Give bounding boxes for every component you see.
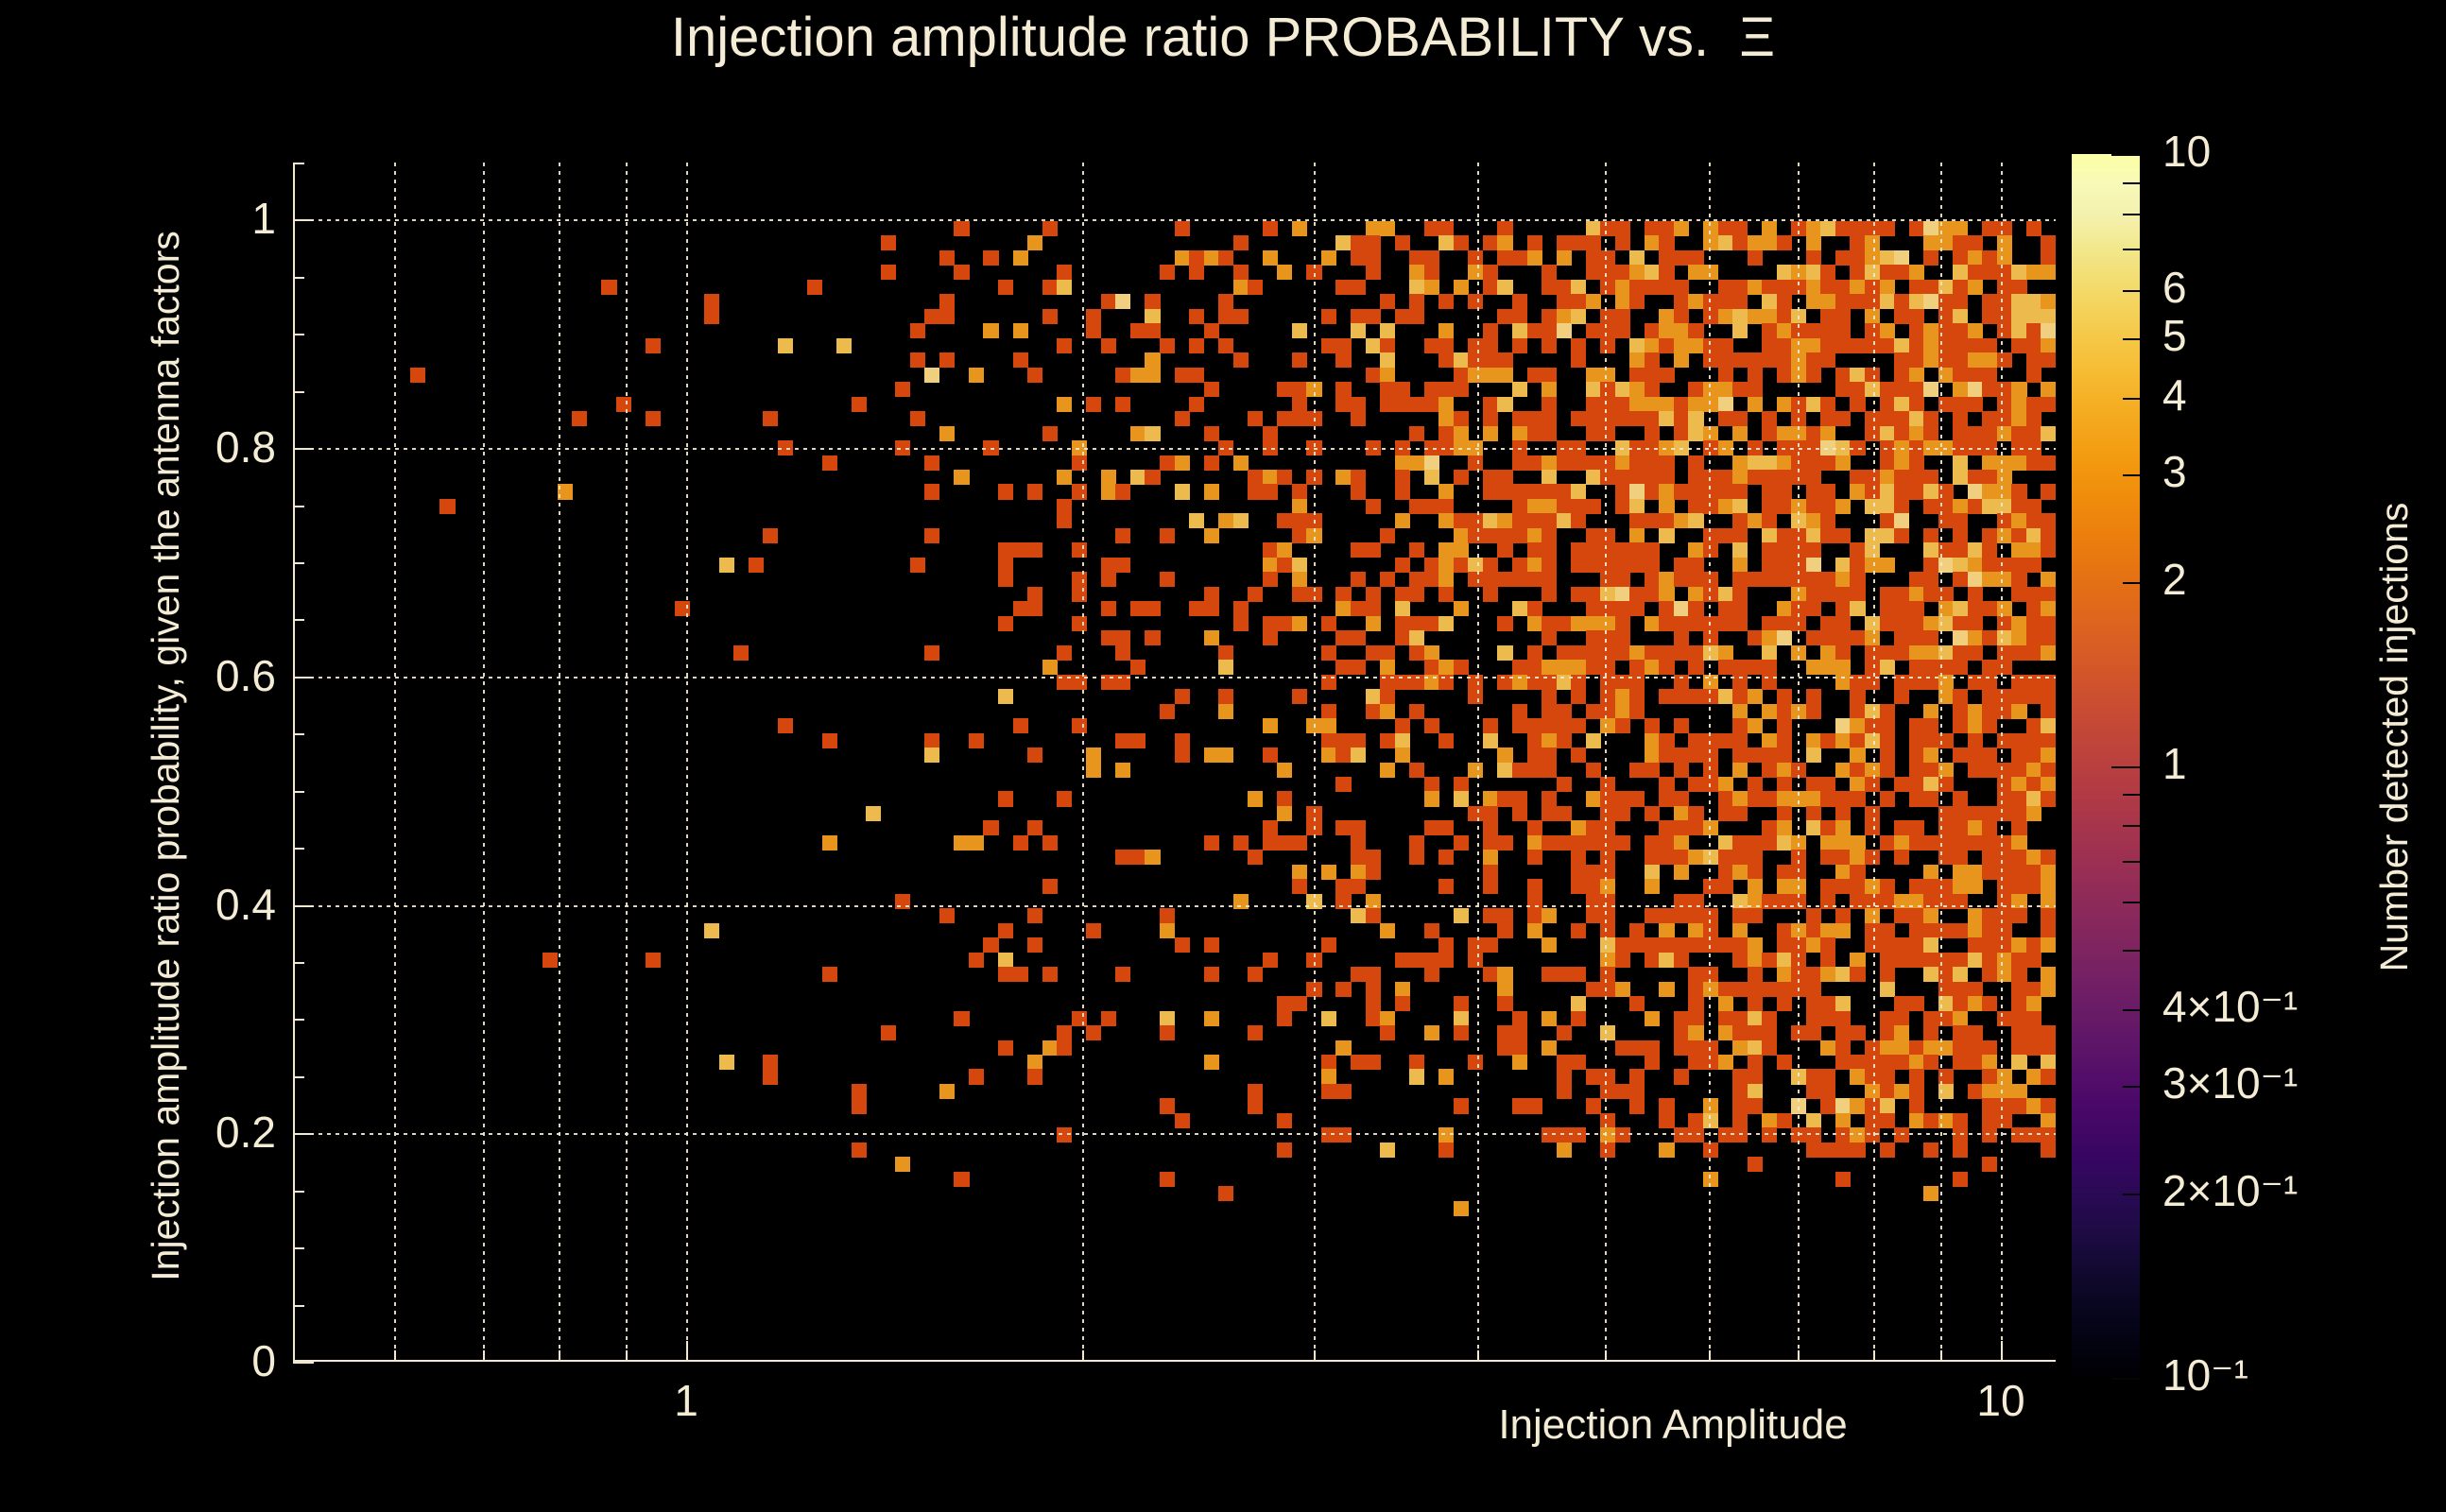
heatmap-cell [1997,1011,2012,1026]
heatmap-cell [1909,601,1924,616]
heatmap-cell [1835,865,1851,880]
heatmap-cell [1923,835,1938,850]
heatmap-cell [1909,718,1924,733]
heatmap-cell [1820,1143,1835,1158]
heatmap-cell [1557,645,1572,661]
heatmap-cell [1820,1011,1835,1026]
heatmap-cell [1659,953,1674,968]
heatmap-cell [939,309,955,324]
heatmap-cell [1923,923,1938,938]
heatmap-cell [1894,937,1909,953]
heatmap-cell [1615,294,1630,309]
heatmap-cell [1497,250,1512,266]
heatmap-cell [1586,1069,1601,1084]
heatmap-cell [1615,572,1630,587]
heatmap-cell [1968,923,1983,938]
heatmap-cell [1233,616,1249,631]
heatmap-cell [1615,323,1630,338]
heatmap-cell [822,733,837,748]
grid-line-horizontal [293,219,2056,221]
heatmap-cell [1968,953,1983,968]
heatmap-cell [1659,338,1674,353]
heatmap-cell [1732,1069,1748,1084]
heatmap-cell [2011,572,2026,587]
heatmap-cell [1659,470,1674,485]
heatmap-cell [1718,1127,1733,1143]
heatmap-cell [1072,542,1087,558]
colorbar-tick [2123,338,2140,340]
heatmap-cell [1777,1113,1792,1128]
heatmap-cell [1366,221,1381,236]
heatmap-cell [1248,967,1263,982]
heatmap-cell [1748,982,1763,997]
heatmap-cell [1321,309,1336,324]
heatmap-cell [1982,718,1997,733]
heatmap-cell [1057,338,1072,353]
heatmap-cell [1953,1055,1968,1070]
heatmap-cell [1571,820,1586,835]
heatmap-cell [1512,763,1527,778]
heatmap-cell [2041,352,2056,368]
heatmap-cell [1762,558,1777,573]
heatmap-cell [1629,455,1645,471]
heatmap-cell [1586,265,1601,280]
heatmap-cell [1600,426,1615,441]
heatmap-cell [1982,1040,1997,1056]
heatmap-cell [2026,265,2041,280]
heatmap-cell [1865,368,1880,383]
colorbar-tick [2123,1086,2140,1088]
heatmap-cell [1542,280,1557,295]
heatmap-cell [1835,1025,1851,1040]
heatmap-cell [1615,587,1630,602]
heatmap-cell [1027,368,1042,383]
heatmap-cell [2041,630,2056,645]
heatmap-cell [998,542,1013,558]
heatmap-cell [2041,937,2056,953]
heatmap-cell [1659,908,1674,923]
heatmap-cell [1880,250,1895,266]
heatmap-cell [1909,382,1924,397]
heatmap-cell [1777,806,1792,821]
heatmap-cell [1600,660,1615,675]
heatmap-cell [1732,1025,1748,1040]
heatmap-cell [1629,338,1645,353]
heatmap-cell [2011,411,2026,426]
heatmap-cell [1982,996,1997,1011]
heatmap-cell [1777,397,1792,412]
heatmap-cell [1292,558,1307,573]
heatmap-cell [1277,791,1292,806]
heatmap-cell [1600,835,1615,850]
heatmap-cell [1820,1069,1835,1084]
heatmap-cell [1351,879,1366,894]
heatmap-cell [1468,572,1483,587]
heatmap-cell [1718,777,1733,792]
heatmap-cell [1335,820,1351,835]
heatmap-cell [1013,718,1028,733]
heatmap-cell [1674,484,1689,499]
heatmap-cell [1042,835,1058,850]
heatmap-cell [1880,411,1895,426]
heatmap-cell [1645,265,1660,280]
heatmap-cell [1380,704,1395,719]
heatmap-cell [1835,587,1851,602]
heatmap-cell [1923,250,1938,266]
heatmap-cell [1351,484,1366,499]
heatmap-cell [822,835,837,850]
colorbar[interactable] [2072,154,2140,1378]
heatmap-cell [2011,645,2026,661]
grid-line-vertical [1873,163,1875,1362]
heatmap-cell [1865,294,1880,309]
heatmap-cell [1894,411,1909,426]
heatmap-cell [1777,309,1792,324]
heatmap-cell [1175,733,1190,748]
heatmap-cell [1542,513,1557,528]
heatmap-cell [1982,660,1997,675]
heatmap-cell [1512,806,1527,821]
heatmap-cell [1438,616,1454,631]
heatmap-cell [1835,368,1851,383]
heatmap-cell [1395,235,1410,250]
heatmap-cell [1880,967,1895,982]
heatmap-cell [1674,747,1689,763]
heatmap-cell [1820,484,1835,499]
heatmap-cell [1645,835,1660,850]
heatmap-cell [1600,1084,1615,1099]
heatmap-cell [1321,865,1336,880]
heatmap-cell [1145,426,1160,441]
heatmap-cell [1850,718,1865,733]
heatmap-cell [1615,470,1630,485]
heatmap-cell [1835,1098,1851,1113]
heatmap-cell [1277,996,1292,1011]
heatmap-cell [1454,558,1469,573]
heatmap-cell [1483,235,1498,250]
colorbar-tick [2123,398,2140,400]
heatmap-cell [1820,352,1835,368]
heatmap-cell [1277,1011,1292,1026]
plot-title: Injection amplitude ratio PROBABILITY vs… [0,6,2446,69]
heatmap-cell [1351,250,1366,266]
heatmap-cell [1762,352,1777,368]
heatmap-cell [1777,996,1792,1011]
heatmap-cell [1629,470,1645,485]
heatmap-cell [1674,280,1689,295]
heatmap-cell [1454,542,1469,558]
heatmap-cell [1600,879,1615,894]
heatmap-cell [1468,953,1483,968]
heatmap-cell [1909,1040,1924,1056]
heatmap-cell [1512,718,1527,733]
heatmap-cell [1645,879,1660,894]
heatmap-cell [1835,250,1851,266]
heatmap-cell [1732,908,1748,923]
heatmap-cell [1351,835,1366,850]
heatmap-cell [1806,542,1821,558]
heatmap-cell [1395,309,1410,324]
heatmap-cell [1483,558,1498,573]
heatmap-cell [1292,572,1307,587]
heatmap-cell [1351,572,1366,587]
heatmap-cell [2041,967,2056,982]
heatmap-cell [1542,791,1557,806]
heatmap-cell [1748,908,1763,923]
heatmap-cell [1497,528,1512,543]
heatmap-cell [1600,455,1615,471]
heatmap-cell [1175,250,1190,266]
heatmap-cell [1175,368,1190,383]
heatmap-cell [1865,411,1880,426]
heatmap-cell [1997,382,2012,397]
heatmap-cell [1557,1069,1572,1084]
heatmap-cell [1263,572,1278,587]
heatmap-cell [1997,1098,2012,1113]
heatmap-cell [1923,953,1938,968]
heatmap-cell [1880,835,1895,850]
heatmap-cell [1629,397,1645,412]
heatmap-cell [1894,309,1909,324]
heatmap-cell [1057,1025,1072,1040]
heatmap-cell [1953,382,1968,397]
heatmap-cell [1483,528,1498,543]
heatmap-cell [1130,368,1145,383]
heatmap-cell [1409,630,1424,645]
heatmap-cell [998,280,1013,295]
heatmap-cell [1454,1011,1469,1026]
heatmap-cell [1953,791,1968,806]
heatmap-cell [2011,1127,2026,1143]
heatmap-cell [1424,820,1439,835]
heatmap-cell [1645,1040,1660,1056]
heatmap-cell [1659,484,1674,499]
heatmap-cell [1953,1040,1968,1056]
heatmap-cell [1571,1011,1586,1026]
heatmap-cell [1571,455,1586,471]
heatmap-cell [1645,865,1660,880]
heatmap-cell [1454,601,1469,616]
heatmap-cell [1557,835,1572,850]
heatmap-cell [1982,1127,1997,1143]
heatmap-cell [2041,323,2056,338]
heatmap-cell [1923,382,1938,397]
heatmap-cell [1894,850,1909,865]
heatmap-cell [1732,542,1748,558]
y-tick-label: 1 [87,193,276,244]
grid-line-vertical [626,163,628,1362]
heatmap-cell [1806,1069,1821,1084]
heatmap-cell [1292,484,1307,499]
heatmap-cell [1894,382,1909,397]
heatmap-cell [2011,1040,2026,1056]
heatmap-cell [1615,718,1630,733]
heatmap-cell [1512,382,1527,397]
heatmap-cell [1835,601,1851,616]
heatmap-cell [1409,572,1424,587]
heatmap-cell [1732,806,1748,821]
heatmap-cell [1101,484,1116,499]
heatmap-cell [1865,382,1880,397]
heatmap-cell [1645,587,1660,602]
heatmap-cell [1820,572,1835,587]
heatmap-cell [1777,865,1792,880]
heatmap-cell [1806,572,1821,587]
heatmap-cell [1424,558,1439,573]
heatmap-cell [1542,689,1557,704]
heatmap-cell [1909,1113,1924,1128]
heatmap-cell [1248,280,1263,295]
heatmap-cell [2041,908,2056,923]
heatmap-cell [2026,982,2041,997]
heatmap-cell [1674,1069,1689,1084]
heatmap-cell [1674,601,1689,616]
heatmap-cell [1160,1098,1175,1113]
heatmap-cell [969,368,984,383]
heatmap-cell [1748,937,1763,953]
heatmap-cell [1674,513,1689,528]
heatmap-cell [1894,352,1909,368]
heatmap-cell [1806,528,1821,543]
heatmap-cell [1865,528,1880,543]
heatmap-cell [1571,587,1586,602]
heatmap-cell [1424,221,1439,236]
heatmap-cell [1233,265,1249,280]
heatmap-cell [1968,1040,1983,1056]
heatmap-cell [1600,368,1615,383]
heatmap-cell [1777,718,1792,733]
heatmap-cell [2026,542,2041,558]
heatmap-cell [1424,953,1439,968]
heatmap-cell [1557,309,1572,324]
heatmap-cell [1115,528,1130,543]
heatmap-cell [1409,294,1424,309]
heatmap-cell [1923,426,1938,441]
heatmap-cell [1586,426,1601,441]
colorbar-tick [2123,182,2140,184]
heatmap-cell [1438,587,1454,602]
heatmap-cell [1748,235,1763,250]
heatmap-cell [1335,470,1351,485]
heatmap-cell [1366,1011,1381,1026]
heatmap-cell [1880,470,1895,485]
heatmap-cell [954,1172,969,1187]
heatmap-cell [1894,294,1909,309]
heatmap-cell [1968,338,1983,353]
heatmap-cell [1880,733,1895,748]
heatmap-cell [1806,747,1821,763]
heatmap-cell [2011,953,2026,968]
heatmap-cell [1557,1055,1572,1070]
heatmap-cell [1263,820,1278,835]
heatmap-cell [1615,953,1630,968]
heatmap-cell [1542,630,1557,645]
heatmap-cell [1454,352,1469,368]
heatmap-cell [910,323,925,338]
heatmap-cell [2011,996,2026,1011]
heatmap-cell [1777,982,1792,997]
heatmap-cell [1042,879,1058,894]
heatmap-cell [1483,572,1498,587]
heatmap-cell [1380,923,1395,938]
heatmap-cell [1968,982,1983,997]
heatmap-cell [1629,660,1645,675]
colorbar-tick-label: 5 [2162,310,2389,361]
heatmap-cell [1335,601,1351,616]
heatmap-cell [1366,645,1381,661]
heatmap-cell [1968,704,1983,719]
heatmap-cell [2011,1098,2026,1113]
heatmap-cell [1923,280,1938,295]
heatmap-cell [1820,953,1835,968]
heatmap-cell [1953,967,1968,982]
heatmap-cell [1748,953,1763,968]
heatmap-cell [1189,397,1204,412]
heatmap-cell [1688,982,1703,997]
colorbar-tick [2111,766,2140,768]
heatmap-cell [1718,235,1733,250]
heatmap-cell [1923,763,1938,778]
heatmap-cell [1527,368,1542,383]
colorbar-tick [2123,861,2140,863]
heatmap-cell [1218,689,1233,704]
heatmap-cell [1865,250,1880,266]
heatmap-cell [1880,221,1895,236]
heatmap-cell [1894,513,1909,528]
heatmap-cell [1659,280,1674,295]
heatmap-cell [1835,879,1851,894]
heatmap-cell [1850,572,1865,587]
heatmap-cell [1777,470,1792,485]
heatmap-cell [1057,645,1072,661]
heatmap-cell [1424,397,1439,412]
heatmap-cell [1909,470,1924,485]
heatmap-cell [2011,820,2026,835]
heatmap-cell [1748,718,1763,733]
heatmap-cell [1748,791,1763,806]
heatmap-cell [1909,777,1924,792]
heatmap-cell [1909,309,1924,324]
heatmap-cell [1762,294,1777,309]
heatmap-cell [1659,835,1674,850]
heatmap-cell [1497,1040,1512,1056]
heatmap-cell [1718,309,1733,324]
heatmap-cell [807,280,822,295]
heatmap-cell [1777,265,1792,280]
heatmap-cell [601,280,616,295]
heatmap-cell [1527,820,1542,835]
heatmap-cell [1835,908,1851,923]
heatmap-cell [1835,558,1851,573]
heatmap-cell [1335,777,1351,792]
heatmap-cell [1880,1040,1895,1056]
heatmap-cell [1835,338,1851,353]
heatmap-cell [1497,470,1512,485]
heatmap-cell [2041,1098,2056,1113]
heatmap-cell [1953,470,1968,485]
heatmap-cell [1351,967,1366,982]
heatmap-cell [1571,616,1586,631]
heatmap-cell [1424,1025,1439,1040]
heatmap-cell [1292,879,1307,894]
heatmap-cell [1997,558,2012,573]
heatmap-cell [1072,616,1087,631]
heatmap-cell [1542,763,1557,778]
heatmap-cell [1483,850,1498,865]
heatmap-cell [1835,499,1851,514]
heatmap-cell [1586,411,1601,426]
heatmap-cell [1865,704,1880,719]
